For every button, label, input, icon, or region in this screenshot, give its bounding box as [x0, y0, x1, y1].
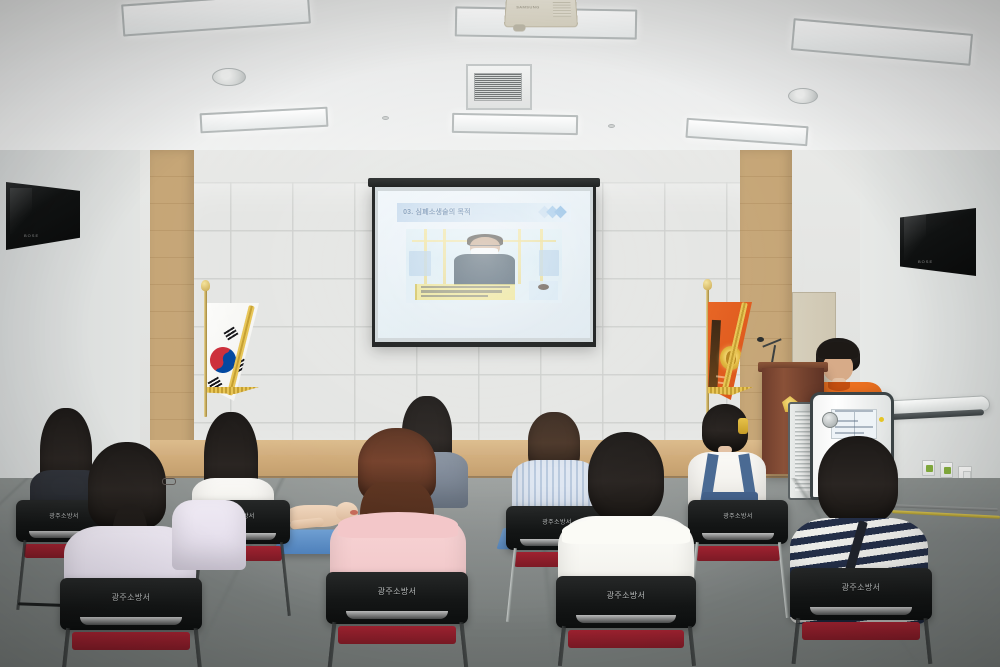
equipment-dial-knob[interactable] — [822, 412, 838, 428]
flag-finial-icon — [201, 280, 210, 291]
chair-seat — [338, 626, 456, 644]
ceiling-downlight-icon — [212, 68, 246, 86]
attendee-hair-clip-icon — [738, 418, 748, 434]
attendee-hair — [818, 436, 898, 524]
speaker-brand-label: BOSE — [24, 233, 39, 238]
attendee-hair — [588, 432, 664, 522]
presenter-hair-front — [818, 342, 858, 359]
ceiling-light-panel — [685, 118, 808, 146]
slide-reporter-inset — [529, 281, 557, 300]
ceiling-downlight-icon — [788, 88, 818, 104]
korean-national-flag — [204, 289, 264, 417]
projection-screen: 03. 심폐소생술의 목적 — [372, 187, 596, 347]
ceiling-light-panel — [452, 113, 578, 135]
chair-label: 광주소방서 — [60, 592, 202, 603]
attendee-hood — [338, 512, 458, 538]
chair-overalls[interactable]: 광주소방서 — [688, 500, 788, 544]
microphone-head-icon — [757, 337, 764, 342]
trigram-icon — [224, 327, 239, 341]
flag-finial-icon — [703, 279, 712, 290]
training-room-photo: SAMSUNG BOSE BOSE 03. 심폐소생술의 목적 — [0, 0, 1000, 667]
slide-content: 03. 심폐소생술의 목적 — [378, 191, 590, 338]
attendee-top — [172, 500, 246, 570]
chair-seat — [802, 622, 920, 640]
flag-fringe — [207, 387, 259, 394]
organization-flag — [706, 288, 762, 414]
projector-brand-label: SAMSUNG — [516, 5, 540, 10]
projector-lens-icon — [513, 24, 526, 31]
projector-vent — [553, 2, 572, 17]
presenter-collar — [828, 382, 850, 391]
speaker-brand-label: BOSE — [918, 259, 933, 264]
chair-backrest — [326, 572, 468, 624]
chair-backrest — [556, 576, 696, 628]
screen-housing — [368, 178, 600, 187]
wall-speaker-right: BOSE — [900, 208, 976, 276]
smoke-detector-icon — [382, 116, 389, 120]
speaker-sheen — [904, 214, 926, 260]
ceiling-projector: SAMSUNG — [504, 0, 578, 27]
chair-label: 광주소방서 — [688, 511, 788, 520]
chair-backrest — [688, 500, 788, 544]
chair-front-pink[interactable]: 광주소방서 — [326, 572, 468, 624]
attendee-glasses-icon — [162, 478, 176, 485]
slide-title: 03. 심폐소생술의 목적 — [397, 207, 471, 217]
chair-front-navy[interactable]: 광주소방서 — [790, 568, 932, 620]
ceiling-light-panel — [791, 18, 973, 66]
slide-person-body — [454, 254, 515, 285]
ceiling-light-panel — [200, 107, 329, 134]
slide-diamond-decoration-icon — [540, 207, 568, 218]
sprinkler-icon — [608, 124, 615, 128]
network-outlet-plate[interactable] — [922, 460, 935, 476]
chair-front-white[interactable]: 광주소방서 — [556, 576, 696, 628]
chair-seat — [568, 630, 684, 648]
slide-person-glasses-icon — [470, 245, 500, 248]
slide-title-bar: 03. 심폐소생술의 목적 — [397, 203, 571, 222]
chair-label: 광주소방서 — [790, 582, 932, 593]
chair-backrest — [60, 578, 202, 630]
network-outlet-plate[interactable] — [940, 462, 953, 478]
ceiling-light-panel — [121, 0, 311, 37]
chair-label: 광주소방서 — [326, 586, 468, 597]
chair-label: 광주소방서 — [556, 590, 696, 601]
chair-seat — [72, 632, 190, 650]
slide-caption-bar — [415, 284, 515, 300]
flag-fringe — [708, 387, 753, 395]
flag-pole — [204, 289, 207, 417]
ceiling-ac-cassette — [466, 64, 532, 110]
chair-backrest — [790, 568, 932, 620]
chair-front-left-1[interactable]: 광주소방서 — [60, 578, 202, 630]
speaker-sheen — [10, 188, 32, 234]
attendee-jacket-shoulder — [562, 518, 690, 544]
chair-seat — [696, 546, 780, 561]
equipment-status-led — [879, 417, 884, 422]
slide-video-clip — [406, 229, 563, 303]
equipment-control-display[interactable] — [831, 409, 877, 439]
